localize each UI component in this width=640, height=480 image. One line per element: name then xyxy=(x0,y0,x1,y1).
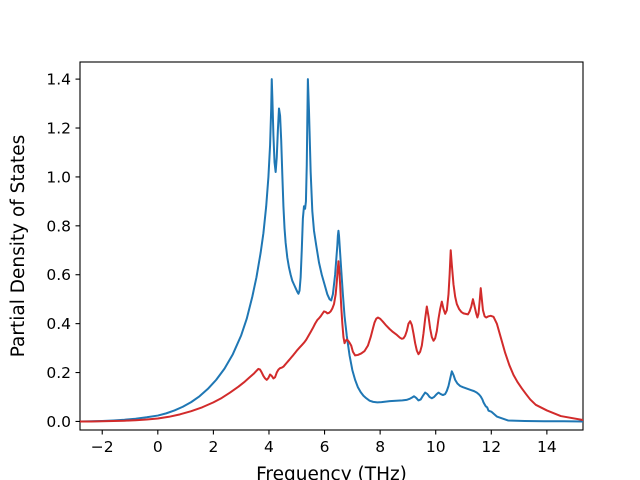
y-tick-label: 0.8 xyxy=(46,217,71,235)
series-red-partial-dos xyxy=(80,250,583,421)
y-tick-label: 0.6 xyxy=(46,266,71,284)
x-tick-label: 8 xyxy=(375,438,385,456)
figure-canvas: −2024681012140.00.20.40.60.81.01.21.4Fre… xyxy=(0,0,640,480)
x-tick-label: 10 xyxy=(426,438,446,456)
y-tick-label: 1.2 xyxy=(46,120,71,138)
axes-frame xyxy=(80,62,583,430)
y-tick-label: 1.0 xyxy=(46,168,71,186)
y-tick-label: 0.2 xyxy=(46,364,71,382)
x-tick-label: 12 xyxy=(481,438,501,456)
x-axis-title: Frequency (THz) xyxy=(256,464,407,480)
y-tick-label: 0.4 xyxy=(46,315,71,333)
x-tick-label: 4 xyxy=(264,438,274,456)
y-tick-label: 1.4 xyxy=(46,71,71,89)
y-tick-label: 0.0 xyxy=(46,413,71,431)
y-axis-title: Partial Density of States xyxy=(8,135,29,358)
chart-plot: −2024681012140.00.20.40.60.81.01.21.4Fre… xyxy=(0,0,640,480)
x-tick-label: 6 xyxy=(320,438,330,456)
x-tick-label: −2 xyxy=(91,438,114,456)
x-tick-label: 2 xyxy=(208,438,218,456)
series-blue-partial-dos xyxy=(80,79,583,421)
x-tick-label: 14 xyxy=(537,438,557,456)
x-tick-label: 0 xyxy=(153,438,163,456)
